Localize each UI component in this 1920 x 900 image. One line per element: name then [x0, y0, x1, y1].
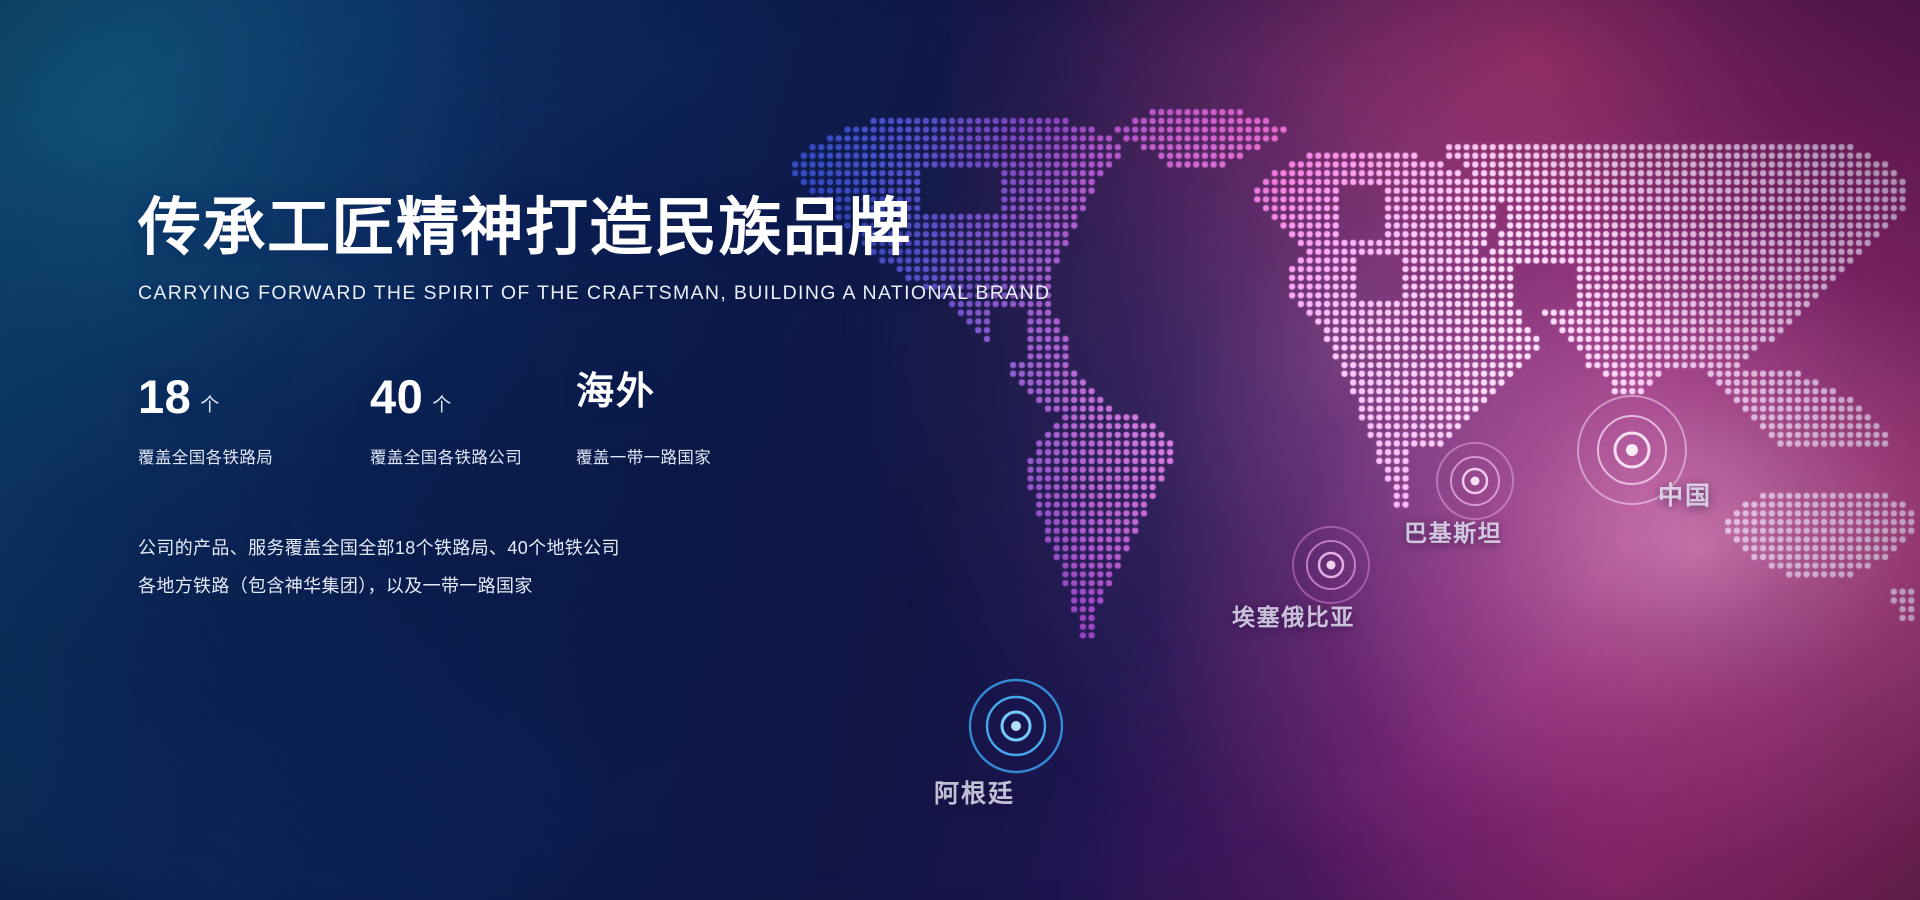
- banner-hero: 中国 巴基斯坦 埃塞俄比亚 阿根廷 传承工匠精神打造民族品牌 CA: [0, 0, 1920, 900]
- stat-item-railway-bureaus: 18 个 覆盖全国各铁路局: [138, 373, 370, 468]
- page-subtitle: CARRYING FORWARD THE SPIRIT OF THE CRAFT…: [138, 282, 898, 305]
- description-line-2: 各地方铁路（包含神华集团），以及一带一路国家: [138, 568, 898, 604]
- stat-value: 海外: [576, 373, 656, 411]
- stat-value-group: 海外: [576, 373, 711, 427]
- stat-label: 覆盖一带一路国家: [576, 444, 711, 468]
- description-block: 公司的产品、服务覆盖全国全部18个铁路局、40个地铁公司 各地方铁路（包含神华集…: [138, 530, 898, 604]
- stats-row: 18 个 覆盖全国各铁路局 40 个 覆盖全国各铁路公司 海外 覆盖一带一路国家: [138, 373, 898, 468]
- page-title: 传承工匠精神打造民族品牌: [138, 196, 898, 260]
- stat-value-group: 18 个: [138, 373, 370, 427]
- hero-content: 传承工匠精神打造民族品牌 CARRYING FORWARD THE SPIRIT…: [138, 196, 898, 604]
- stat-value-group: 40 个: [370, 373, 576, 427]
- stat-label: 覆盖全国各铁路局: [138, 444, 370, 468]
- stat-unit: 个: [200, 390, 219, 417]
- stat-value: 18: [138, 373, 191, 420]
- stat-value: 40: [370, 373, 423, 420]
- description-line-1: 公司的产品、服务覆盖全国全部18个铁路局、40个地铁公司: [138, 530, 898, 566]
- stat-label: 覆盖全国各铁路公司: [370, 444, 576, 468]
- stat-item-overseas: 海外 覆盖一带一路国家: [576, 373, 711, 468]
- stat-unit: 个: [432, 390, 451, 417]
- stat-item-railway-companies: 40 个 覆盖全国各铁路公司: [370, 373, 576, 468]
